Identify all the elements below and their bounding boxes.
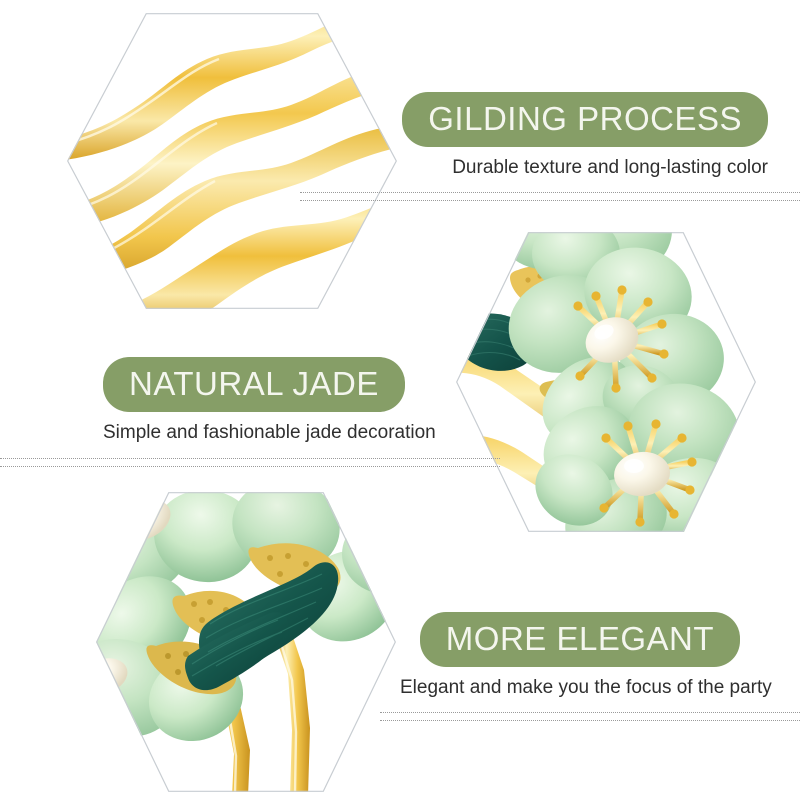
infographic-canvas: GILDING PROCESS Durable texture and long… xyxy=(0,0,800,800)
feature-text-gilding-process: GILDING PROCESS Durable texture and long… xyxy=(400,92,768,180)
feature-title-pill-gilding-process: GILDING PROCESS xyxy=(402,92,768,147)
photo-gold-prongs xyxy=(67,13,397,309)
photo-jade-flower-pearl xyxy=(456,232,756,532)
divider-top xyxy=(300,192,800,201)
feature-title-pill-more-elegant: MORE ELEGANT xyxy=(420,612,740,667)
feature-title-gilding-process: GILDING PROCESS xyxy=(428,99,742,138)
feature-title-pill-natural-jade: NATURAL JADE xyxy=(103,357,405,412)
feature-subtitle-natural-jade: Simple and fashionable jade decoration xyxy=(103,421,433,445)
feature-photo-more-elegant xyxy=(96,492,396,792)
feature-photo-natural-jade xyxy=(456,232,756,532)
feature-subtitle-gilding-process: Durable texture and long-lasting color xyxy=(400,156,768,180)
feature-title-more-elegant: MORE ELEGANT xyxy=(446,619,714,658)
divider-middle xyxy=(0,458,500,467)
feature-title-natural-jade: NATURAL JADE xyxy=(129,364,379,403)
feature-text-more-elegant: MORE ELEGANT Elegant and make you the fo… xyxy=(400,612,740,700)
feature-text-natural-jade: NATURAL JADE Simple and fashionable jade… xyxy=(103,357,433,445)
feature-subtitle-more-elegant: Elegant and make you the focus of the pa… xyxy=(400,676,740,700)
photo-jade-petals-thread xyxy=(96,492,396,792)
feature-photo-gilding-process xyxy=(67,13,397,309)
divider-bottom xyxy=(380,712,800,721)
